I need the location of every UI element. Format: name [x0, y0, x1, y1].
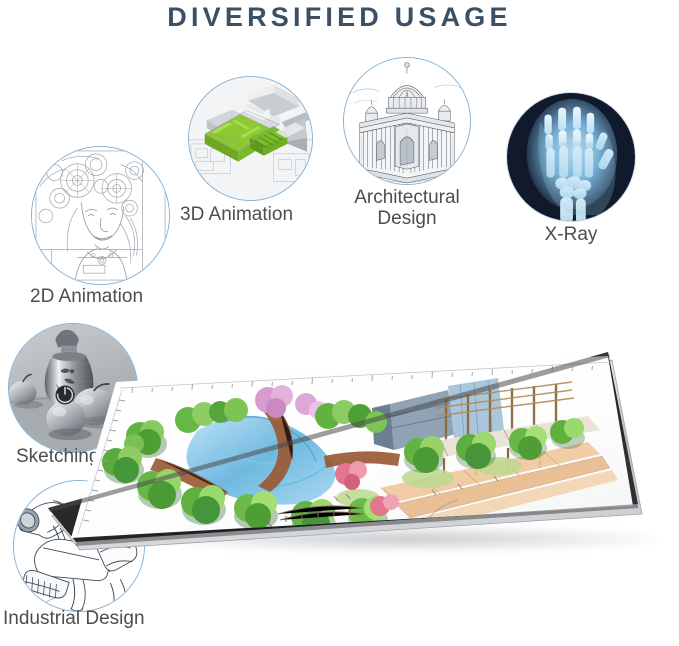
page-title: DIVERSIFIED USAGE	[0, 2, 679, 33]
use-case-image-3d-animation	[188, 76, 313, 201]
use-case-label-industrial-design: Industrial Design	[3, 608, 213, 629]
use-case-image-architectural-design	[343, 57, 471, 185]
use-case-2d-animation[interactable]: 2D Animation	[31, 146, 170, 285]
line-art-portrait-icon	[32, 147, 169, 284]
use-case-image-2d-animation	[31, 146, 170, 285]
use-case-label-architectural-design: Architectural Design	[322, 187, 492, 230]
use-case-architectural-design[interactable]: Architectural Design	[343, 57, 471, 185]
hand-radiograph-icon	[507, 93, 635, 221]
use-case-x-ray[interactable]: X-Ray	[506, 92, 636, 222]
domed-building-sketch-icon	[344, 58, 470, 184]
3d-floorplan-render-icon	[189, 77, 312, 200]
infographic-root: DIVERSIFIED USAGE	[0, 0, 679, 646]
led-light-pad[interactable]	[28, 338, 679, 578]
use-case-label-x-ray: X-Ray	[506, 224, 636, 245]
use-case-3d-animation[interactable]: 3D Animation	[188, 76, 313, 201]
power-icon[interactable]	[54, 384, 76, 406]
use-case-label-2d-animation: 2D Animation	[30, 286, 230, 307]
use-case-image-x-ray	[506, 92, 636, 222]
light-pad-graphic	[28, 338, 679, 578]
